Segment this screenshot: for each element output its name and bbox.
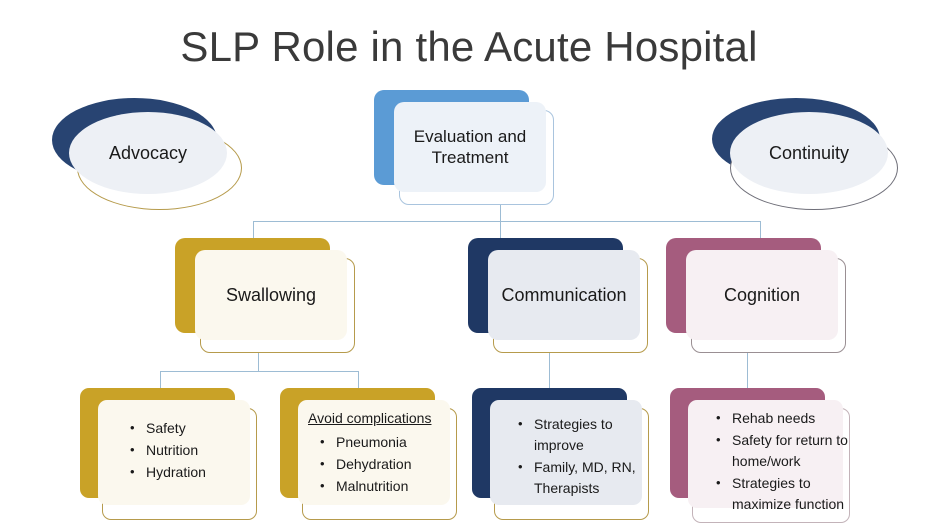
list-item: Safety for return to home/work: [732, 430, 850, 472]
list-item: Strategies to improve: [534, 414, 650, 456]
leaf3-items: Strategies to improve Family, MD, RN, Th…: [514, 414, 650, 499]
communication-label: Communication: [488, 250, 640, 340]
leaf1-bullet-list: Safety Nutrition Hydration: [98, 400, 250, 505]
root-label: Evaluation and Treatment: [394, 102, 546, 192]
list-item: Family, MD, RN, Therapists: [534, 457, 650, 499]
list-item: Malnutrition: [336, 476, 446, 497]
advocacy-label: Advocacy: [69, 112, 227, 194]
leaf2-bullet-list: Avoid complications Pneumonia Dehydratio…: [298, 400, 450, 505]
connector-cognition-stem: [747, 351, 748, 389]
leaf-communication-items[interactable]: Strategies to improve Family, MD, RN, Th…: [472, 388, 652, 520]
connector-communication-stem: [549, 351, 550, 389]
node-communication[interactable]: Communication: [468, 238, 648, 353]
leaf-cognition-items[interactable]: Rehab needs Safety for return to home/wo…: [670, 388, 852, 523]
leaf2-heading: Avoid complications: [308, 408, 446, 429]
node-advocacy[interactable]: Advocacy: [52, 98, 242, 210]
connector-swallowing-bar: [160, 371, 358, 372]
page-title: SLP Role in the Acute Hospital: [0, 22, 938, 72]
node-swallowing[interactable]: Swallowing: [175, 238, 355, 353]
leaf-swallowing-basics[interactable]: Safety Nutrition Hydration: [80, 388, 260, 520]
leaf4-items: Rehab needs Safety for return to home/wo…: [712, 408, 850, 515]
node-continuity[interactable]: Continuity: [712, 98, 898, 210]
connector-to-complications: [358, 371, 359, 389]
connector-to-safety: [160, 371, 161, 389]
slide-canvas: SLP Role in the Acute Hospital Advocacy …: [0, 0, 938, 528]
cognition-label: Cognition: [686, 250, 838, 340]
leaf1-items: Safety Nutrition Hydration: [126, 418, 244, 483]
list-item: Hydration: [146, 462, 244, 483]
connector-level1-bar: [253, 221, 760, 222]
connector-swallowing-stem: [258, 351, 259, 372]
node-evaluation-and-treatment[interactable]: Evaluation and Treatment: [374, 90, 554, 205]
node-cognition[interactable]: Cognition: [666, 238, 846, 353]
list-item: Safety: [146, 418, 244, 439]
leaf2-items: Pneumonia Dehydration Malnutrition: [308, 432, 446, 497]
list-item: Dehydration: [336, 454, 446, 475]
list-item: Strategies to maximize function: [732, 473, 850, 515]
leaf3-bullet-list: Strategies to improve Family, MD, RN, Th…: [490, 400, 650, 505]
leaf-swallowing-complications[interactable]: Avoid complications Pneumonia Dehydratio…: [280, 388, 460, 520]
leaf4-bullet-list: Rehab needs Safety for return to home/wo…: [688, 400, 850, 515]
list-item: Nutrition: [146, 440, 244, 461]
list-item: Pneumonia: [336, 432, 446, 453]
swallowing-label: Swallowing: [195, 250, 347, 340]
list-item: Rehab needs: [732, 408, 850, 429]
continuity-label: Continuity: [730, 112, 888, 194]
connector-root-stem: [500, 203, 501, 222]
